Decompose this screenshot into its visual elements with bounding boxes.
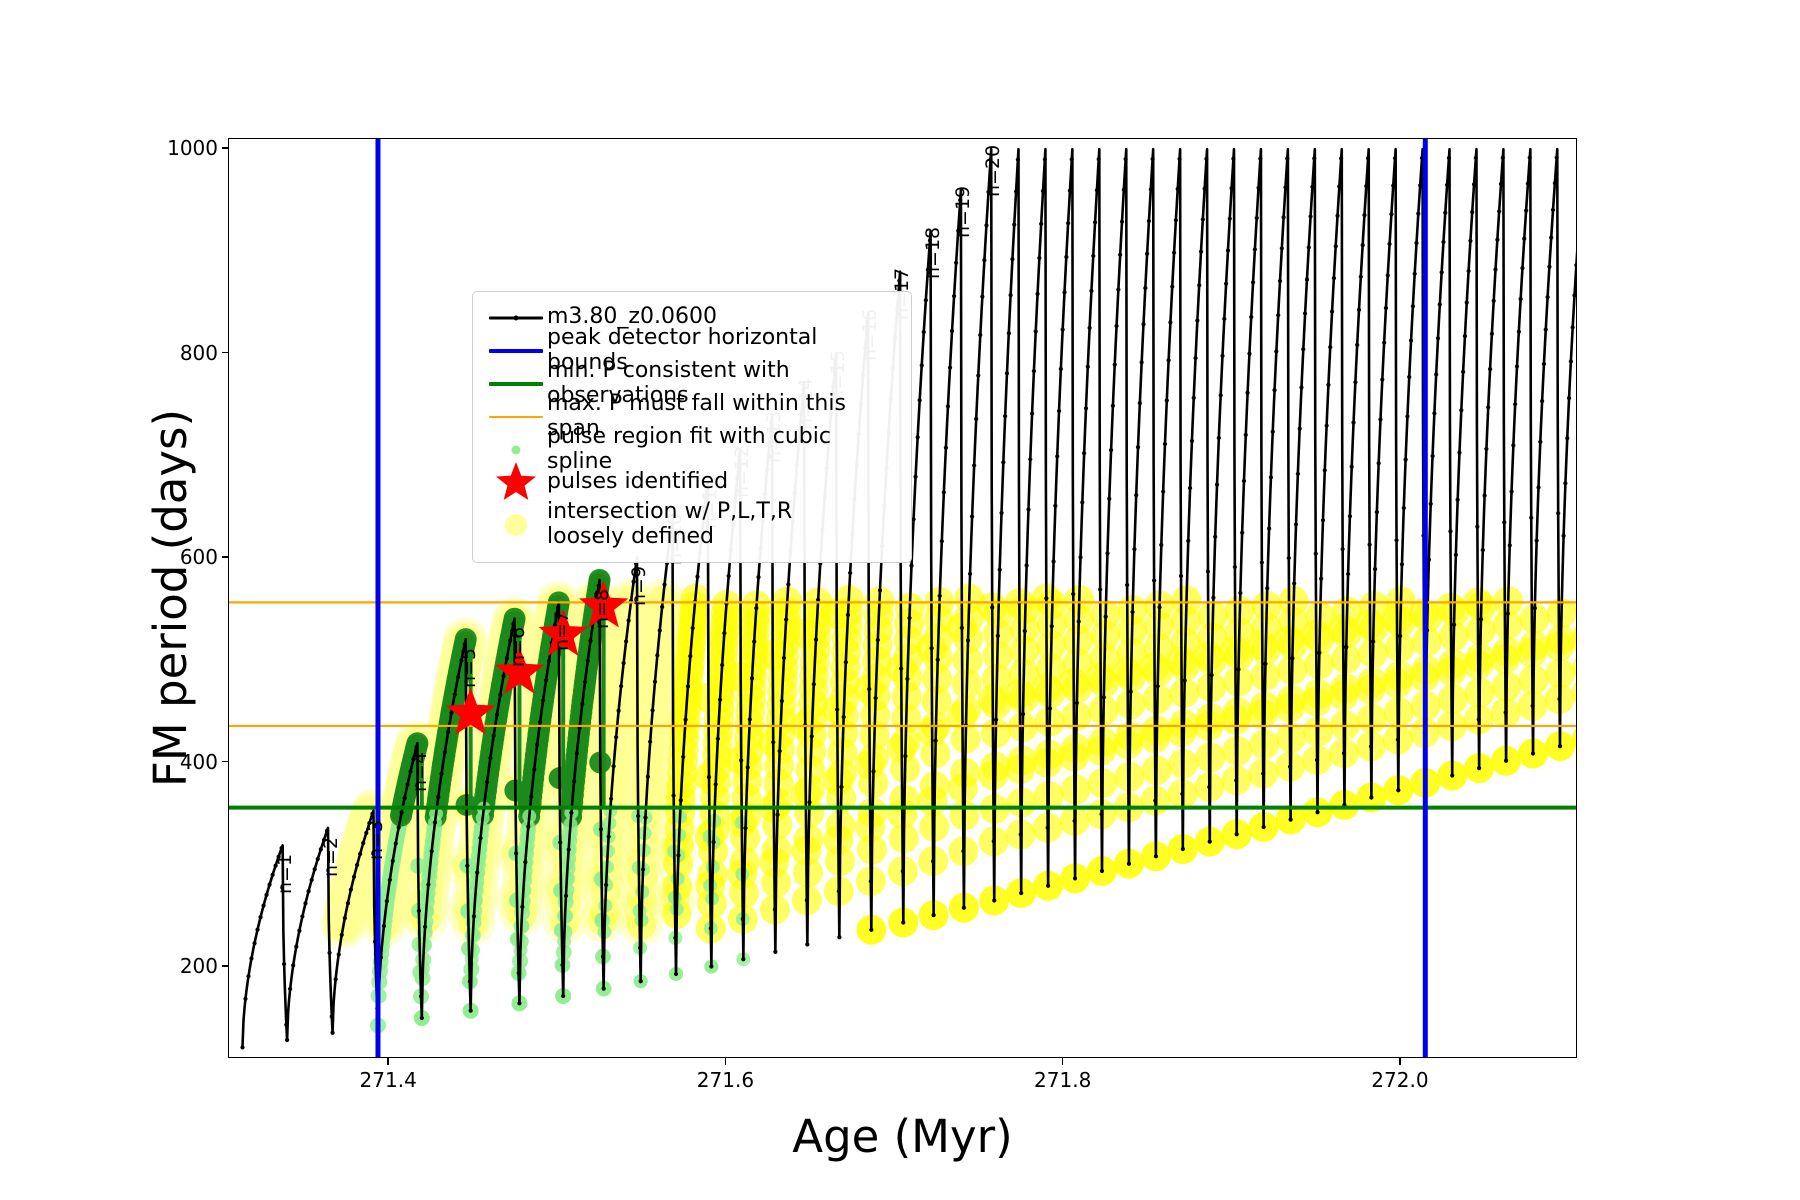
y-tick-label: 200 (98, 954, 218, 978)
legend[interactable]: m3.80_z0.0600peak detector horizontal bo… (472, 291, 912, 563)
y-tick-label: 600 (98, 545, 218, 569)
pulse-index-label: n=2 (320, 837, 342, 877)
pulse-index-label: n=18 (922, 227, 944, 279)
x-tick-label: 271.4 (360, 1068, 417, 1092)
pulse-index-label: n=6 (507, 627, 529, 667)
pulse-index-label: n=1 (274, 854, 296, 894)
x-tick-label: 272.0 (1371, 1068, 1428, 1092)
legend-label: intersection w/ P,L,T,Rloosely defined (547, 500, 792, 549)
legend-label: pulse region fit with cubic spline (547, 425, 899, 474)
pulse-index-label: n=9 (628, 566, 650, 606)
x-tick-mark (725, 1058, 727, 1065)
pulse-index-label: n=7 (551, 611, 573, 651)
legend-line-marker-icon (485, 301, 547, 334)
legend-big-dot-icon (485, 509, 547, 542)
legend-item[interactable]: pulse region fit with cubic spline (485, 433, 899, 466)
pulse-index-labels: n=1n=2n=3n=4n=5n=6n=7n=8n=9n=10n=11n=12n… (229, 139, 1576, 1057)
pulse-index-label: n=3 (365, 820, 387, 860)
x-tick-label: 271.8 (1034, 1068, 1091, 1092)
figure-canvas: FM period (days) 2004006008001000 Age (M… (0, 0, 1800, 1200)
y-tick-label: 400 (98, 750, 218, 774)
legend-item[interactable]: intersection w/ P,L,T,Rloosely defined (485, 499, 899, 551)
x-tick-mark (387, 1058, 389, 1065)
x-tick-mark (1399, 1058, 1401, 1065)
pulse-index-label: n=20 (982, 145, 1004, 197)
legend-thin-line-icon (485, 400, 547, 433)
legend-line-icon (485, 367, 547, 400)
legend-label: pulses identified (547, 470, 728, 495)
x-tick-label: 271.6 (697, 1068, 754, 1092)
y-tick-label: 800 (98, 341, 218, 365)
pulse-index-label: n=8 (591, 589, 613, 629)
x-tick-mark (1062, 1058, 1064, 1065)
legend-star-icon (485, 466, 547, 499)
pulse-index-label: n=5 (458, 648, 480, 688)
pulse-index-label: n=19 (952, 186, 974, 238)
pulse-index-label: n=4 (409, 752, 431, 792)
y-axis-label: FM period (days) (138, 138, 202, 1058)
y-tick-label: 1000 (98, 136, 218, 160)
plot-area[interactable]: n=1n=2n=3n=4n=5n=6n=7n=8n=9n=10n=11n=12n… (228, 138, 1577, 1058)
x-axis-label: Age (Myr) (228, 1110, 1577, 1163)
legend-line-icon (485, 334, 547, 367)
